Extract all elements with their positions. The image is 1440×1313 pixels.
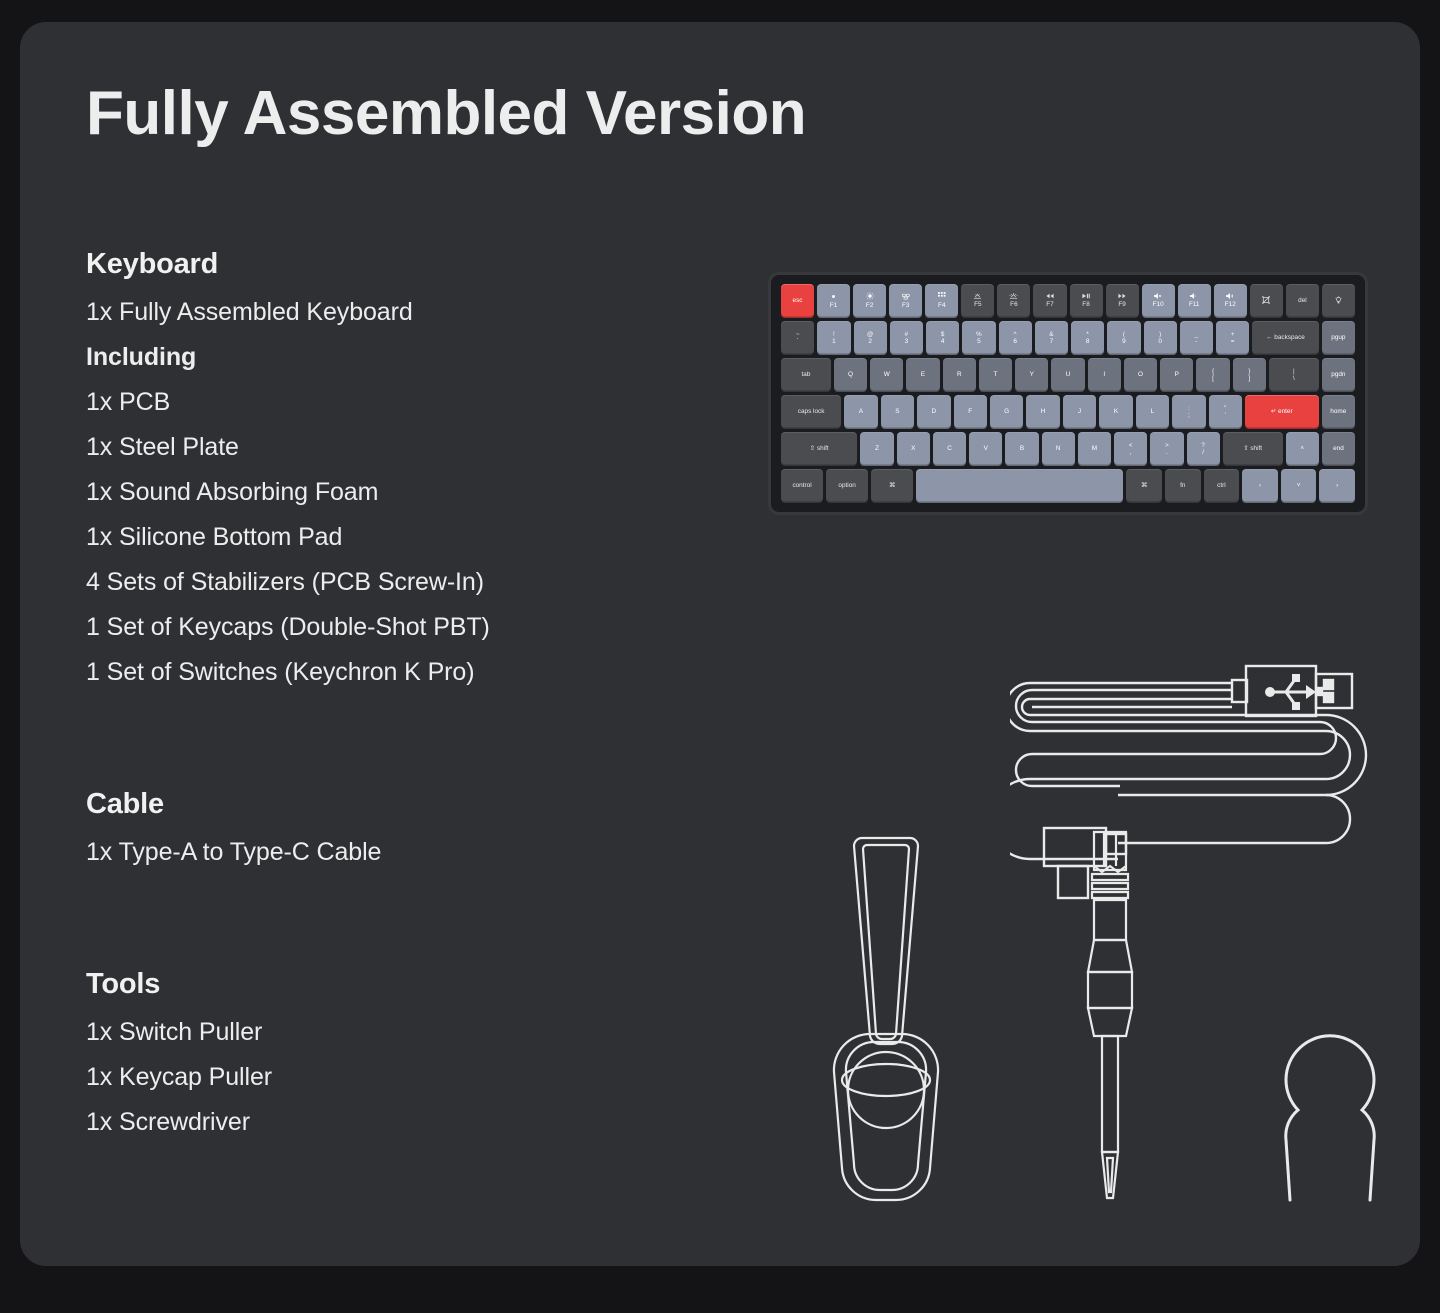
backlight-up-icon	[1009, 293, 1018, 301]
key-legend: H	[1041, 408, 1046, 416]
key-j[interactable]: J	[1063, 395, 1096, 429]
key-u[interactable]: U	[1051, 358, 1084, 392]
key-legend-bottom: \	[1293, 375, 1295, 383]
key-legend: G	[1004, 408, 1009, 416]
content-card: Fully Assembled Version Keyboard 1x Full…	[20, 22, 1420, 1266]
key-blank[interactable]: ~`	[781, 321, 814, 355]
key-legend-bottom: 6	[1013, 338, 1017, 346]
key-t[interactable]: T	[979, 358, 1012, 392]
key-6[interactable]: ^6	[999, 321, 1032, 355]
mission-control-icon	[902, 293, 910, 302]
key-blank[interactable]: <,	[1114, 432, 1147, 466]
list-item: 1x Silicone Bottom Pad	[86, 515, 706, 560]
key-legend: ⌘	[889, 482, 895, 490]
key-blank[interactable]: +=	[1216, 321, 1249, 355]
key-legend-top: <	[1129, 442, 1133, 449]
key-blank[interactable]: >.	[1150, 432, 1183, 466]
key-2[interactable]: @2	[854, 321, 887, 355]
key-legend: caps lock	[798, 408, 825, 416]
key-shift[interactable]: ⇧ shift	[781, 432, 857, 466]
section-keyboard: Keyboard 1x Fully Assembled Keyboard Inc…	[86, 248, 706, 695]
key-legend-bottom: F1	[830, 302, 837, 310]
key-8[interactable]: *8	[1071, 321, 1104, 355]
key-legend: J	[1078, 408, 1081, 416]
key-legend: L	[1151, 408, 1155, 416]
key-f3[interactable]: F3	[889, 284, 922, 318]
key-legend: E	[921, 371, 925, 379]
key-blank[interactable]: {[	[1196, 358, 1229, 392]
key-legend: U	[1066, 371, 1071, 379]
key-f2[interactable]: F2	[853, 284, 886, 318]
key-legend: B	[1020, 445, 1024, 453]
key-1[interactable]: !1	[817, 321, 850, 355]
key-legend-top: *	[1086, 331, 1088, 338]
key-legend-bottom: 2	[868, 338, 872, 346]
key-x[interactable]: X	[897, 432, 930, 466]
brightness-up-icon	[866, 292, 874, 302]
key-k[interactable]: K	[1099, 395, 1132, 429]
key-blank[interactable]: :;	[1172, 395, 1205, 429]
key-i[interactable]: I	[1088, 358, 1121, 392]
key-option[interactable]: option	[826, 469, 868, 503]
list-item: 1 Set of Keycaps (Double-Shot PBT)	[86, 605, 706, 650]
key-9[interactable]: (9	[1107, 321, 1140, 355]
switch-puller-icon	[834, 838, 938, 1200]
list-item: 4 Sets of Stabilizers (PCB Screw-In)	[86, 560, 706, 605]
keyboard-rows: escF1F2F3F4F5F6F7F8F9F10F11F12del~`!1@2#…	[781, 284, 1355, 503]
list-item: 1x Screwdriver	[86, 1100, 706, 1145]
key-legend-bottom: /	[1202, 449, 1204, 457]
key-legend: V	[984, 445, 988, 453]
key-shift[interactable]: ⇧ shift	[1223, 432, 1283, 466]
rewind-icon	[1046, 293, 1054, 301]
key-f10[interactable]: F10	[1142, 284, 1175, 318]
keyboard-row: controloption⌘⌘fnctrl‹˅›	[781, 469, 1355, 503]
key-legend: control	[792, 482, 811, 490]
key-legend: fn	[1180, 482, 1185, 490]
key-legend-bottom: [	[1212, 375, 1214, 383]
key-tab[interactable]: tab	[781, 358, 831, 392]
key-legend-bottom: 0	[1158, 338, 1162, 346]
key-blank[interactable]: }]	[1233, 358, 1266, 392]
keyboard-row: ~`!1@2#3$4%5^6&7*8(9)0_-+=← backspacepgu…	[781, 321, 1355, 355]
key-legend: C	[947, 445, 952, 453]
key-legend: W	[884, 371, 890, 379]
key-legend-bottom: F8	[1082, 301, 1089, 309]
key-legend-top: )	[1159, 331, 1161, 338]
key-f7[interactable]: F7	[1033, 284, 1066, 318]
light-bulb-icon	[1335, 296, 1342, 307]
key-legend: pgup	[1331, 334, 1345, 342]
key-f11[interactable]: F11	[1178, 284, 1211, 318]
key-legend-top: ^	[1014, 331, 1017, 338]
key-pgdn[interactable]: pgdn	[1322, 358, 1355, 392]
key-legend-bottom: 4	[941, 338, 945, 346]
keyboard-row: tabQWERTYUIOP{[}]|\pgdn	[781, 358, 1355, 392]
section-heading-tools: Tools	[86, 968, 706, 1001]
key-b[interactable]: B	[1005, 432, 1038, 466]
key-legend: T	[994, 371, 998, 379]
list-item: 1x Switch Puller	[86, 1010, 706, 1055]
key-legend-bottom: 1	[832, 338, 836, 346]
key-legend: A	[859, 408, 863, 416]
key-blank[interactable]: _-	[1180, 321, 1213, 355]
key-blank[interactable]: "'	[1209, 395, 1242, 429]
key-legend: P	[1175, 371, 1179, 379]
key-blank[interactable]: ⌘	[1126, 469, 1162, 503]
key-legend: ⌘	[1141, 482, 1147, 490]
volume-down-icon	[1190, 293, 1198, 301]
key-legend: ⇧ shift	[810, 445, 829, 453]
key-legend: end	[1333, 445, 1344, 453]
key-3[interactable]: #3	[890, 321, 923, 355]
key-legend: Y	[1030, 371, 1034, 379]
key-legend-bottom: ;	[1188, 412, 1190, 420]
key-legend-bottom: 5	[977, 338, 981, 346]
list-item: 1x Type-A to Type-C Cable	[86, 830, 706, 875]
key-legend: ˅	[1297, 482, 1301, 490]
key-legend-bottom: `	[797, 338, 799, 346]
key-l[interactable]: L	[1136, 395, 1169, 429]
key-a[interactable]: A	[844, 395, 877, 429]
key-legend: tab	[801, 371, 810, 379]
key-g[interactable]: G	[990, 395, 1023, 429]
backlight-down-icon	[973, 293, 982, 301]
keyboard-row: caps lockASDFGHJKL:;"'↵ enterhome	[781, 395, 1355, 429]
key-legend: O	[1138, 371, 1143, 379]
key-legend-bottom: F7	[1046, 301, 1053, 309]
key-legend: ⇧ shift	[1243, 445, 1262, 453]
list-item: 1x Sound Absorbing Foam	[86, 470, 706, 515]
key-z[interactable]: Z	[860, 432, 893, 466]
key-legend: N	[1056, 445, 1061, 453]
keyboard-case: escF1F2F3F4F5F6F7F8F9F10F11F12del~`!1@2#…	[768, 272, 1368, 515]
key-0[interactable]: )0	[1144, 321, 1177, 355]
key-m[interactable]: M	[1078, 432, 1111, 466]
keycap-puller-icon	[1286, 1036, 1374, 1200]
key-legend-top: ~	[796, 331, 800, 338]
key-legend-bottom: F9	[1118, 301, 1125, 309]
key-legend: ›	[1336, 482, 1338, 490]
launchpad-icon	[938, 292, 946, 302]
key-f4[interactable]: F4	[925, 284, 958, 318]
key-legend-top: :	[1188, 405, 1190, 412]
list-item: 1x Keycap Puller	[86, 1055, 706, 1100]
key-5[interactable]: %5	[962, 321, 995, 355]
play-pause-icon	[1082, 293, 1090, 301]
key-pgup[interactable]: pgup	[1322, 321, 1355, 355]
key-legend: del	[1298, 297, 1307, 305]
screwdriver-icon	[1088, 832, 1132, 1198]
key-legend-top: &	[1049, 331, 1053, 338]
key-legend-top: (	[1123, 331, 1125, 338]
key-legend: M	[1092, 445, 1097, 453]
key-del[interactable]: del	[1286, 284, 1319, 318]
key-4[interactable]: $4	[926, 321, 959, 355]
key-blank[interactable]: ⌘	[871, 469, 913, 503]
key-p[interactable]: P	[1160, 358, 1193, 392]
keyboard-row: escF1F2F3F4F5F6F7F8F9F10F11F12del	[781, 284, 1355, 318]
key-w[interactable]: W	[870, 358, 903, 392]
section-heading-cable: Cable	[86, 788, 706, 821]
key-legend: pgdn	[1331, 371, 1345, 379]
page-title: Fully Assembled Version	[86, 80, 806, 148]
key-o[interactable]: O	[1124, 358, 1157, 392]
fast-forward-icon	[1118, 293, 1126, 301]
key-legend-top: %	[976, 331, 982, 338]
key-legend-bottom: 3	[905, 338, 909, 346]
key-f8[interactable]: F8	[1070, 284, 1103, 318]
key-legend: K	[1114, 408, 1118, 416]
list-item: 1 Set of Switches (Keychron K Pro)	[86, 650, 706, 695]
usb-trident-icon	[1265, 674, 1316, 710]
snapshot-icon	[1262, 296, 1270, 307]
key-blank[interactable]: ˅	[1281, 469, 1317, 503]
key-legend-bottom: -	[1195, 338, 1197, 346]
key-7[interactable]: &7	[1035, 321, 1068, 355]
key-legend-top: !	[833, 331, 835, 338]
key-esc[interactable]: esc	[781, 284, 814, 318]
key-legend-top: >	[1165, 442, 1169, 449]
tools-illustration	[810, 822, 1390, 1222]
key-f[interactable]: F	[954, 395, 987, 429]
section-tools: Tools 1x Switch Puller 1x Keycap Puller …	[86, 968, 706, 1145]
key-legend: F	[968, 408, 972, 416]
key-q[interactable]: Q	[834, 358, 867, 392]
mute-icon	[1154, 293, 1162, 301]
key-legend-bottom: F12	[1225, 301, 1236, 309]
key-legend-bottom: F10	[1153, 301, 1164, 309]
key-caps-lock[interactable]: caps lock	[781, 395, 841, 429]
volume-up-icon	[1226, 293, 1235, 301]
key-legend-top: @	[867, 331, 873, 338]
key-e[interactable]: E	[906, 358, 939, 392]
key-legend-bottom: F2	[866, 302, 873, 310]
key-legend: home	[1330, 408, 1346, 416]
key-legend-top: "	[1224, 405, 1226, 412]
key-f12[interactable]: F12	[1214, 284, 1247, 318]
key-legend-bottom: 7	[1050, 338, 1054, 346]
key-end[interactable]: end	[1322, 432, 1355, 466]
key-legend-top: {	[1212, 368, 1214, 375]
key-f1[interactable]: F1	[817, 284, 850, 318]
key-legend-top: ?	[1201, 442, 1204, 449]
list-item: 1x Steel Plate	[86, 425, 706, 470]
key-f5[interactable]: F5	[961, 284, 994, 318]
key-legend: X	[911, 445, 915, 453]
key-legend: esc	[793, 297, 803, 305]
key-snapshot-icon[interactable]	[1250, 284, 1283, 318]
key-blank[interactable]: ›	[1319, 469, 1355, 503]
key-legend: ctrl	[1217, 482, 1226, 490]
key-legend-bottom: ,	[1130, 449, 1132, 457]
key-enter[interactable]: ↵ enter	[1245, 395, 1319, 429]
key-d[interactable]: D	[917, 395, 950, 429]
key-backspace[interactable]: ← backspace	[1252, 321, 1319, 355]
key-legend: ‹	[1259, 482, 1261, 490]
key-home[interactable]: home	[1322, 395, 1355, 429]
key-blank[interactable]: |\	[1269, 358, 1319, 392]
key-legend-top: _	[1195, 331, 1198, 338]
key-legend-bottom: =	[1231, 338, 1235, 346]
key-legend-bottom: F3	[902, 302, 909, 310]
key-legend: D	[931, 408, 936, 416]
key-y[interactable]: Y	[1015, 358, 1048, 392]
key-f9[interactable]: F9	[1106, 284, 1139, 318]
keyboard-row: ⇧ shiftZXCVBNM<,>.?/⇧ shift˄end	[781, 432, 1355, 466]
key-legend-bottom: .	[1166, 449, 1168, 457]
key-legend: Z	[875, 445, 879, 453]
key-n[interactable]: N	[1042, 432, 1075, 466]
key-legend-top: $	[941, 331, 944, 338]
section-cable: Cable 1x Type-A to Type-C Cable	[86, 788, 706, 875]
key-legend: Q	[848, 371, 853, 379]
key-legend-bottom: F11	[1189, 301, 1200, 309]
key-light-bulb-icon[interactable]	[1322, 284, 1355, 318]
key-legend-bottom: 8	[1086, 338, 1090, 346]
key-legend-top: #	[905, 331, 908, 338]
keyboard-illustration: escF1F2F3F4F5F6F7F8F9F10F11F12del~`!1@2#…	[768, 272, 1368, 515]
key-r[interactable]: R	[943, 358, 976, 392]
list-item: 1x PCB	[86, 380, 706, 425]
key-legend-bottom: '	[1225, 412, 1226, 420]
key-legend: S	[895, 408, 899, 416]
key-f6[interactable]: F6	[997, 284, 1030, 318]
key-key[interactable]	[916, 469, 1123, 503]
key-legend: ˄	[1300, 445, 1304, 453]
key-h[interactable]: H	[1026, 395, 1059, 429]
tools-drawing	[810, 822, 1390, 1222]
key-legend-top: |	[1293, 368, 1295, 375]
key-legend-bottom: ]	[1248, 375, 1250, 383]
key-v[interactable]: V	[969, 432, 1002, 466]
key-c[interactable]: C	[933, 432, 966, 466]
key-legend: R	[957, 371, 962, 379]
key-legend: I	[1103, 371, 1105, 379]
key-s[interactable]: S	[881, 395, 914, 429]
key-fn[interactable]: fn	[1165, 469, 1201, 503]
key-legend-bottom: F4	[938, 302, 945, 310]
key-legend-bottom: F5	[974, 301, 981, 309]
key-blank[interactable]: ‹	[1242, 469, 1278, 503]
brightness-down-icon	[830, 293, 837, 302]
key-ctrl[interactable]: ctrl	[1204, 469, 1240, 503]
key-blank[interactable]: ˄	[1286, 432, 1319, 466]
key-legend-top: +	[1231, 331, 1235, 338]
key-blank[interactable]: ?/	[1187, 432, 1220, 466]
section-heading-keyboard: Keyboard	[86, 248, 706, 281]
key-legend-bottom: 9	[1122, 338, 1126, 346]
key-legend-top: }	[1248, 368, 1250, 375]
key-control[interactable]: control	[781, 469, 823, 503]
list-item: 1x Fully Assembled Keyboard	[86, 290, 706, 335]
key-legend-bottom: F6	[1010, 301, 1017, 309]
key-legend: ← backspace	[1266, 334, 1305, 342]
list-item: Including	[86, 335, 706, 380]
key-legend: option	[838, 482, 855, 490]
key-legend: ↵ enter	[1271, 408, 1293, 416]
